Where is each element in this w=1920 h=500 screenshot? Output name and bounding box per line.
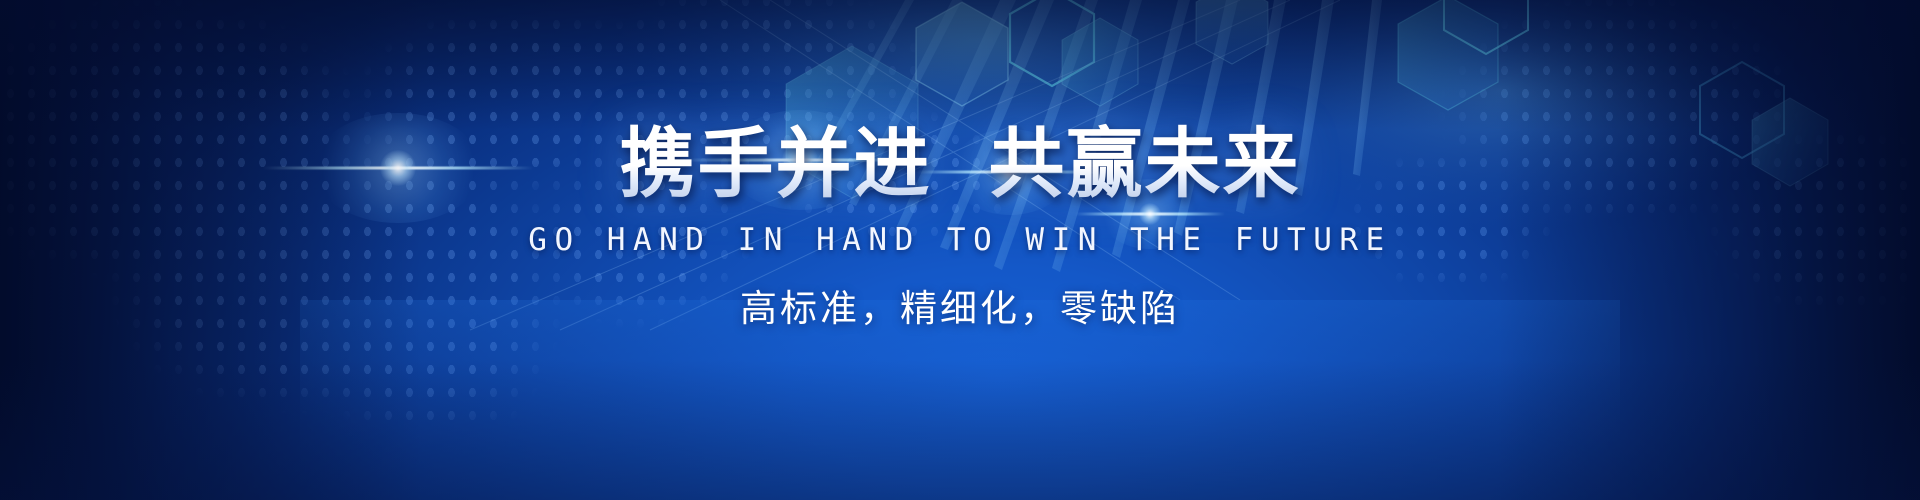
hero-banner: 携手并进 共赢未来 GO HAND IN HAND TO WIN THE FUT… <box>0 0 1920 500</box>
banner-text-block: 携手并进 共赢未来 GO HAND IN HAND TO WIN THE FUT… <box>0 0 1920 500</box>
banner-tagline-cn: 高标准，精细化，零缺陷 <box>0 278 1920 332</box>
banner-headline-cn: 携手并进 共赢未来 <box>0 122 1920 206</box>
banner-headline-en: GO HAND IN HAND TO WIN THE FUTURE <box>0 222 1920 258</box>
